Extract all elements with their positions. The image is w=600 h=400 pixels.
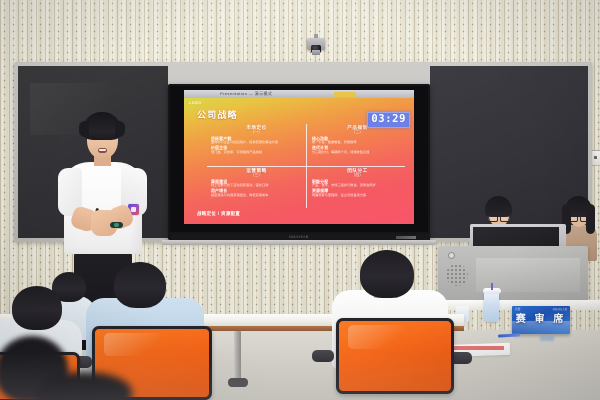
countdown-timer: 03:29	[367, 112, 410, 128]
judge-name-placard: 竞赛 创新创业大赛 赛 审 席	[512, 306, 570, 334]
quadrant-item: 核心功能 统一平台、数据看板、智能推荐	[312, 137, 403, 145]
display-bezel: Presentation — 演示模式 LOGO 公司战略 市场定位 （一） 目…	[170, 86, 428, 232]
quadrant-item: 迭代计划 分三期交付，每期两个月，持续收集反馈	[312, 146, 403, 154]
ceiling-camera-icon	[307, 34, 325, 56]
camera-base	[312, 50, 320, 55]
presenter-wristwatch	[110, 222, 123, 228]
quadrant-subheading: （一）	[211, 130, 302, 135]
audience-head	[12, 286, 62, 330]
slide-quadrant: 产品规划 （二） 核心功能 统一平台、数据看板、智能推荐 迭代计划 分三期交付，…	[312, 125, 403, 164]
slide-quadrant-grid: 市场定位 （一） 目标客户群 面向中小企业与校园用户，提供轻量化解决方案 价值主…	[207, 124, 405, 208]
cup-straw	[491, 283, 493, 290]
table-foot	[228, 378, 248, 387]
quadrant-subheading: （二）	[312, 130, 403, 135]
chair-armrest	[312, 350, 334, 362]
judge-hair	[565, 196, 592, 217]
display-control-strip[interactable]	[396, 236, 416, 239]
quadrant-item: 价值主张 低门槛、高效率、可持续的产品体验	[211, 146, 302, 154]
presentation-title-bar: Presentation — 演示模式	[184, 90, 414, 98]
quadrant-item-detail: 低门槛、高效率、可持续的产品体验	[211, 151, 302, 155]
quadrant-subheading: （三）	[211, 173, 302, 178]
chair-backrest	[336, 318, 454, 394]
audience-head	[360, 250, 414, 298]
placard-subtitle: 创新创业大赛	[553, 308, 567, 311]
placard-name-text: 赛 审 席	[512, 314, 570, 326]
app-strip-label: Presentation — 演示模式	[220, 90, 272, 98]
classroom-scene: Presentation — 演示模式 LOGO 公司战略 市场定位 （一） 目…	[0, 0, 600, 400]
app-strip-badge	[334, 92, 356, 97]
equipment-cabinet[interactable]	[438, 246, 588, 304]
quadrant-subheading: （四）	[312, 173, 403, 178]
quadrant-item: 渠道建设 线上社群与线下活动双轮驱动，强化口碑	[211, 180, 302, 188]
slide-quadrant: 团队分工 （四） 职能分配 产品、技术、市场三组并行推进，周例会同步 资源保障 …	[312, 168, 403, 207]
slide-footer: 战略定位 / 资源配置	[197, 211, 240, 217]
slide-quadrant: 运营策略 （三） 渠道建设 线上社群与线下活动双轮驱动，强化口碑 用户增长 裂变…	[211, 168, 302, 207]
display-base-rail	[162, 240, 436, 245]
slide-logo: LOGO	[189, 101, 202, 106]
presenter-mouth	[98, 148, 107, 153]
presenter-hair	[82, 112, 122, 140]
placard-header: 竞赛	[515, 308, 521, 311]
quadrant-item: 职能分配 产品、技术、市场三组并行推进，周例会同步	[312, 180, 403, 188]
quadrant-item: 用户增长 裂变邀请与内容营销结合，降低获客成本	[211, 189, 302, 197]
quadrant-divider-horizontal	[207, 166, 405, 167]
presentation-slide: LOGO 公司战略 市场定位 （一） 目标客户群 面向中小企业与校园用户，提供轻…	[184, 98, 414, 224]
judge-hair	[485, 196, 512, 217]
quadrant-item: 目标客户群 面向中小企业与校园用户，提供轻量化解决方案	[211, 137, 302, 145]
placard-reflection	[540, 336, 554, 341]
quadrant-item-detail: 裂变邀请与内容营销结合，降低获客成本	[211, 194, 302, 198]
slide-quadrant: 市场定位 （一） 目标客户群 面向中小企业与校园用户，提供轻量化解决方案 价值主…	[211, 125, 302, 164]
audience-head	[114, 262, 166, 308]
camera-body	[307, 38, 325, 50]
interactive-display[interactable]: Presentation — 演示模式 LOGO 公司战略 市场定位 （一） 目…	[168, 84, 430, 240]
quadrant-item-detail: 分三期交付，每期两个月，持续收集反馈	[312, 151, 403, 155]
quadrant-item: 资源保障 明确预算与里程碑，设立风险备用方案	[312, 189, 403, 197]
display-brand-logo: MAXHUB	[289, 234, 309, 239]
slide-title: 公司战略	[197, 110, 238, 121]
quadrant-item-detail: 明确预算与里程碑，设立风险备用方案	[312, 194, 403, 198]
drink-cup	[484, 292, 499, 322]
